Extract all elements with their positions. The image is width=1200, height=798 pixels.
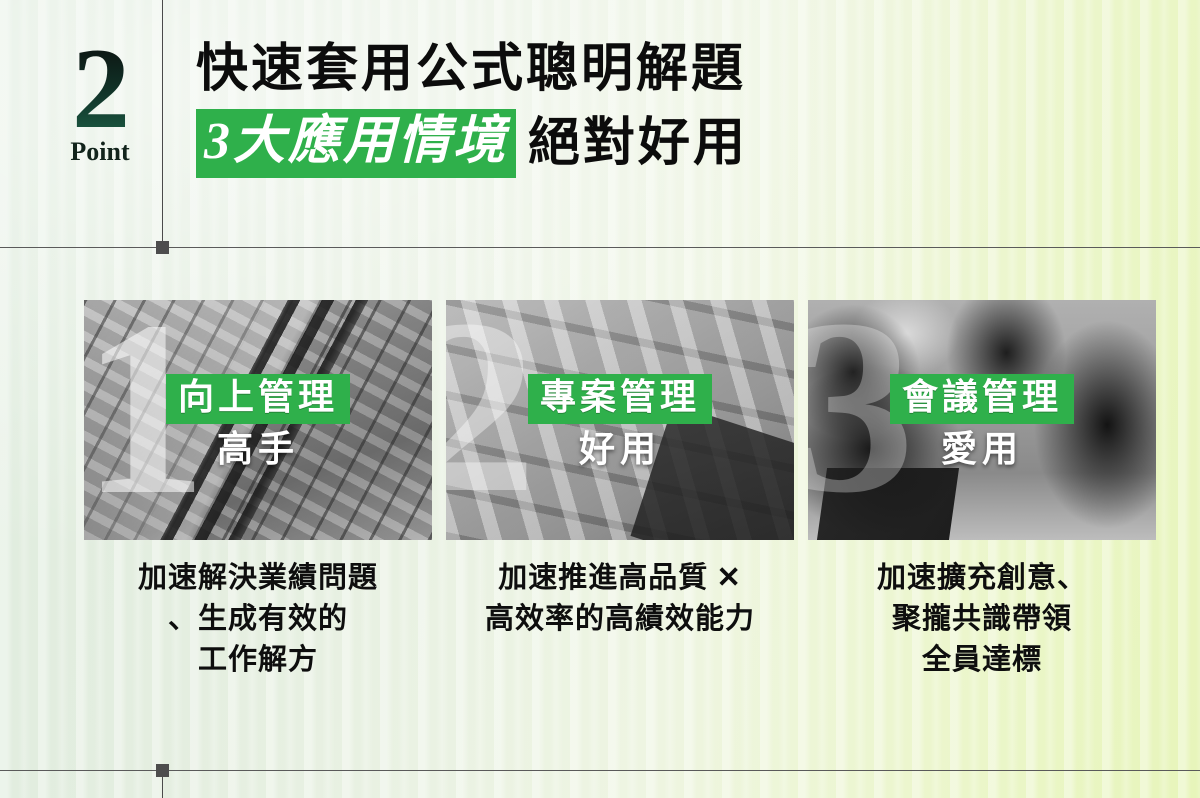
card-project-management[interactable]: 2 專案管理 好用	[446, 300, 794, 540]
card-row: 1 向上管理 高手 2 專案管理 好用 3 會議管理 愛用	[0, 300, 1200, 540]
caption-3-line-3: 全員達標	[808, 640, 1156, 681]
point-badge: 2 Point	[44, 36, 156, 167]
card-upward-management[interactable]: 1 向上管理 高手	[84, 300, 432, 540]
card-meeting-management[interactable]: 3 會議管理 愛用	[808, 300, 1156, 540]
title-line-2-rest: 絕對好用	[528, 114, 748, 173]
caption-3-line-2: 聚攏共識帶領	[808, 599, 1156, 640]
caption-2: 加速推進高品質 ✕ 高效率的高績效能力	[446, 558, 794, 640]
caption-1-line-2: 、生成有效的	[84, 599, 432, 640]
caption-2-line-1: 加速推進高品質 ✕	[446, 558, 794, 599]
footer-divider-knob	[156, 764, 169, 777]
header-divider-knob	[156, 241, 169, 254]
slide-canvas: 2 Point 快速套用公式聰明解題 3大應用情境 絕對好用 1 向上管理 高手…	[0, 0, 1200, 798]
card-badge-1: 向上管理	[166, 374, 350, 424]
header-vertical-divider	[162, 0, 163, 247]
point-number: 2	[44, 36, 156, 143]
caption-1-line-1: 加速解決業績問題	[84, 558, 432, 599]
card-subtitle-3: 愛用	[808, 430, 1156, 470]
caption-3-line-1: 加速擴充創意、	[808, 558, 1156, 599]
footer-vertical-divider	[162, 770, 163, 798]
card-badge-2: 專案管理	[528, 374, 712, 424]
caption-1-line-3: 工作解方	[84, 640, 432, 681]
card-text-1: 向上管理 高手	[84, 374, 432, 469]
caption-1: 加速解決業績問題 、生成有效的 工作解方	[84, 558, 432, 682]
title-block: 快速套用公式聰明解題 3大應用情境 絕對好用	[196, 40, 1176, 178]
caption-row: 加速解決業績問題 、生成有效的 工作解方 加速推進高品質 ✕ 高效率的高績效能力…	[0, 558, 1200, 738]
title-line-2: 3大應用情境 絕對好用	[196, 109, 1176, 177]
point-label: Point	[44, 137, 156, 167]
slide-header: 2 Point 快速套用公式聰明解題 3大應用情境 絕對好用	[0, 0, 1200, 247]
title-highlight: 3大應用情境	[196, 109, 516, 177]
header-horizontal-divider	[0, 247, 1200, 248]
caption-3: 加速擴充創意、 聚攏共識帶領 全員達標	[808, 558, 1156, 682]
caption-2-line-2: 高效率的高績效能力	[446, 599, 794, 640]
card-text-3: 會議管理 愛用	[808, 374, 1156, 469]
card-subtitle-2: 好用	[446, 430, 794, 470]
card-badge-3: 會議管理	[890, 374, 1074, 424]
footer-horizontal-divider	[0, 770, 1200, 771]
card-subtitle-1: 高手	[84, 430, 432, 470]
card-text-2: 專案管理 好用	[446, 374, 794, 469]
title-line-1: 快速套用公式聰明解題	[196, 40, 1176, 99]
